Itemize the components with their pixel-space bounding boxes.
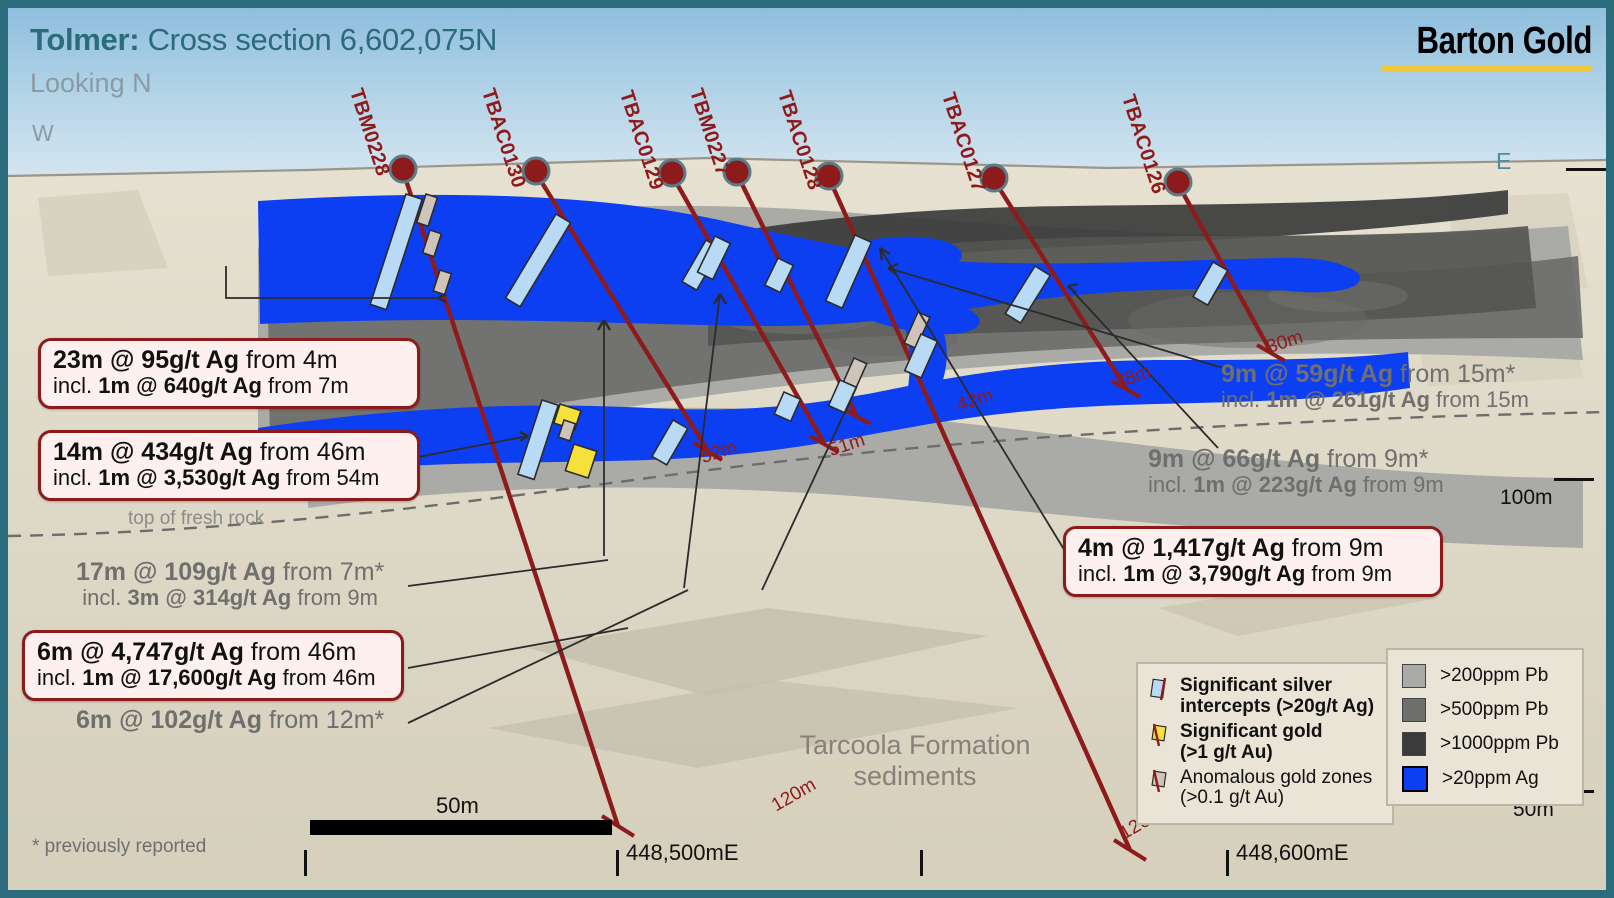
barton-gold-logo: Barton Gold	[1378, 20, 1592, 71]
east-label: E	[1496, 148, 1511, 175]
callout-6m-line1: 6m @ 4,747g/t Ag from 46m	[37, 638, 389, 666]
logo-underline	[1382, 65, 1592, 71]
formation-line1: Tarcoola Formation	[790, 730, 1040, 761]
swatch-pb500	[1402, 698, 1426, 722]
easting-tick-448600	[1226, 850, 1229, 876]
legend-colors: >200ppm Pb >500ppm Pb >1000ppm Pb >20ppm…	[1386, 648, 1584, 806]
ann-17m-line1: 17m @ 109g/t Ag from 7m*	[76, 558, 384, 586]
legend-silver-l2: intercepts (>20g/t Ag)	[1180, 696, 1374, 717]
legend-gold-text: Significant gold (>1 g/t Au)	[1180, 722, 1323, 764]
legend-gold-l2: (>1 g/t Au)	[1180, 742, 1273, 763]
callout-23m-line1: 23m @ 95g/t Ag from 4m	[53, 346, 405, 374]
ann-9m-59: 9m @ 59g/t Ag from 15m* incl. 1m @ 261g/…	[1221, 360, 1529, 413]
ann-9m-66-line2: incl. 1m @ 223g/t Ag from 9m	[1148, 473, 1444, 498]
anomalous-gold-icon	[1150, 768, 1172, 794]
legend-color-row-0: >200ppm Pb	[1402, 664, 1572, 688]
ann-17m-line2: incl. 3m @ 314g/t Ag from 9m	[76, 586, 384, 611]
legend-item-gold: Significant gold (>1 g/t Au)	[1150, 722, 1382, 764]
ann-9m-66: 9m @ 66g/t Ag from 9m* incl. 1m @ 223g/t…	[1148, 445, 1444, 498]
scale-bar-label: 50m	[436, 793, 479, 819]
legend-silver-l1: Significant silver	[1180, 675, 1332, 696]
legend-anomalous-text: Anomalous gold zones (>0.1 g/t Au)	[1180, 768, 1372, 810]
ann-6m-102: 6m @ 102g/t Ag from 12m*	[76, 706, 384, 734]
cross-section-canvas: Tolmer: Cross section 6,602,075N Looking…	[8, 8, 1606, 890]
gold-intercept-icon	[1150, 722, 1172, 748]
page-subtitle: Looking N	[30, 68, 152, 99]
legend-symbols: Significant silver intercepts (>20g/t Ag…	[1136, 662, 1394, 825]
swatch-pb200	[1402, 664, 1426, 688]
legend-color-row-1: >500ppm Pb	[1402, 698, 1572, 722]
callout-6m-line2: incl. 1m @ 17,600g/t Ag from 46m	[37, 666, 389, 691]
swatch-pb1000	[1402, 732, 1426, 756]
legend-item-silver: Significant silver intercepts (>20g/t Ag…	[1150, 676, 1382, 718]
legend-color-label-0: >200ppm Pb	[1440, 666, 1548, 687]
legend-anom-l2: (>0.1 g/t Au)	[1180, 787, 1284, 808]
callout-4m-line2: incl. 1m @ 3,790g/t Ag from 9m	[1078, 562, 1428, 587]
ann-6m-102-line1: 6m @ 102g/t Ag from 12m*	[76, 706, 384, 734]
silver-intercept-icon	[1150, 676, 1172, 702]
easting-tick-448500	[616, 850, 619, 876]
legend-gold-l1: Significant gold	[1180, 721, 1323, 742]
callout-14m-line2: incl. 1m @ 3,530g/t Ag from 54m	[53, 466, 405, 491]
logo-text: Barton Gold	[1416, 20, 1592, 63]
formation-label: Tarcoola Formation sediments	[790, 730, 1040, 792]
rl-tick-top	[1566, 168, 1606, 171]
legend-anom-l1: Anomalous gold zones	[1180, 767, 1372, 788]
title-bold: Tolmer:	[30, 22, 139, 57]
callout-4m-1417: 4m @ 1,417g/t Ag from 9m incl. 1m @ 3,79…	[1063, 526, 1443, 597]
legend-item-anomalous: Anomalous gold zones (>0.1 g/t Au)	[1150, 768, 1382, 810]
legend-color-label-3: >20ppm Ag	[1442, 769, 1539, 790]
top-of-fresh-rock-label: top of fresh rock	[128, 508, 264, 530]
callout-23m: 23m @ 95g/t Ag from 4m incl. 1m @ 640g/t…	[38, 338, 420, 409]
west-label: W	[32, 120, 54, 147]
ann-9m-66-line1: 9m @ 66g/t Ag from 9m*	[1148, 445, 1444, 473]
callout-4m-line1: 4m @ 1,417g/t Ag from 9m	[1078, 534, 1428, 562]
rl-tick-100m	[1554, 478, 1594, 481]
legend-silver-text: Significant silver intercepts (>20g/t Ag…	[1180, 676, 1374, 718]
legend-color-label-2: >1000ppm Pb	[1440, 734, 1559, 755]
rl-label-100m: 100m	[1500, 486, 1553, 510]
callout-6m-4747: 6m @ 4,747g/t Ag from 46m incl. 1m @ 17,…	[22, 630, 404, 701]
scale-bar	[310, 820, 612, 835]
easting-label-448600: 448,600mE	[1236, 840, 1349, 866]
footnote-previously-reported: * previously reported	[32, 836, 206, 858]
screenshot-root: Tolmer: Cross section 6,602,075N Looking…	[0, 0, 1614, 898]
easting-tick-mid	[920, 850, 923, 876]
ann-9m-59-line1: 9m @ 59g/t Ag from 15m*	[1221, 360, 1529, 388]
callout-14m-line1: 14m @ 434g/t Ag from 46m	[53, 438, 405, 466]
easting-tick-0	[304, 850, 307, 876]
callout-23m-line2: incl. 1m @ 640g/t Ag from 7m	[53, 374, 405, 399]
legend-color-label-1: >500ppm Pb	[1440, 700, 1548, 721]
legend-color-row-3: >20ppm Ag	[1402, 766, 1572, 792]
formation-line2: sediments	[790, 761, 1040, 792]
page-title: Tolmer: Cross section 6,602,075N	[30, 22, 497, 58]
ann-17m: 17m @ 109g/t Ag from 7m* incl. 3m @ 314g…	[76, 558, 384, 611]
legend-color-row-2: >1000ppm Pb	[1402, 732, 1572, 756]
easting-label-448500: 448,500mE	[626, 840, 739, 866]
ann-9m-59-line2: incl. 1m @ 261g/t Ag from 15m	[1221, 388, 1529, 413]
title-rest: Cross section 6,602,075N	[139, 22, 497, 57]
callout-14m: 14m @ 434g/t Ag from 46m incl. 1m @ 3,53…	[38, 430, 420, 501]
swatch-ag20	[1402, 766, 1428, 792]
